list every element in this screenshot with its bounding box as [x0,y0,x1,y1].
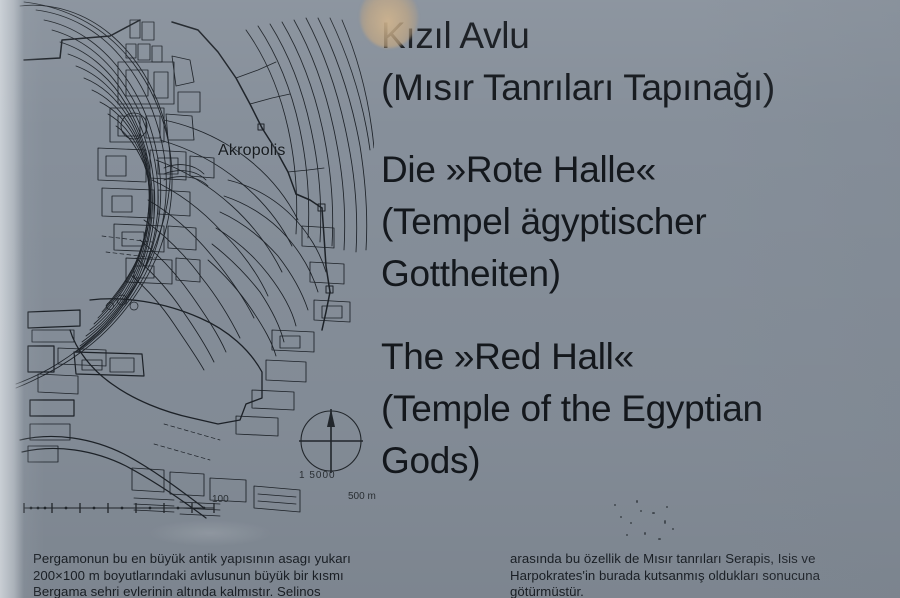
title-german-line3: Gottheiten) [381,248,896,300]
map-scale-bar [24,503,214,513]
map-label-akropolis: Akropolis [218,142,286,160]
information-sign-panel: Akropolis 1 5000 100 500 m Kızıl Avlu (M… [0,0,900,598]
map-scalebar-tick-500: 500 m [348,491,376,502]
description-left-line2: 200×100 m boyutlarındaki avlusunun büyük… [33,568,453,585]
title-english-line2: (Temple of the Egyptian [381,383,896,435]
title-english-line3: Gods) [381,435,896,487]
title-block-english: The »Red Hall« (Temple of the Egyptian G… [381,300,896,487]
description-right-line3: götürmüstür. [510,584,900,598]
map-drawing [14,0,374,540]
map-scalebar-tick-100: 100 [212,494,229,505]
description-column-left: Pergamonun bu en büyük antik yapısının a… [33,551,453,598]
title-german-line2: (Tempel ägyptischer [381,196,896,248]
title-stack: Kızıl Avlu (Mısır Tanrıları Tapınağı) Di… [381,0,896,487]
title-turkish-line1: Kızıl Avlu [381,10,896,62]
description-left-line1: Pergamonun bu en büyük antik yapısının a… [33,551,453,568]
title-german-line1: Die »Rote Halle« [381,144,896,196]
title-turkish-line2: (Mısır Tanrıları Tapınağı) [381,62,896,114]
description-column-right: arasında bu özellik de Mısır tanrıları S… [510,551,900,598]
title-block-german: Die »Rote Halle« (Tempel ägyptischer Got… [381,114,896,300]
title-english-line1: The »Red Hall« [381,331,896,383]
title-block-turkish: Kızıl Avlu (Mısır Tanrıları Tapınağı) [381,0,896,114]
dirt-specks [600,498,800,556]
description-text: Pergamonun bu en büyük antik yapısının a… [0,551,900,598]
description-right-line1: arasında bu özellik de Mısır tanrıları S… [510,551,900,568]
site-plan-map: Akropolis 1 5000 100 500 m [14,0,374,540]
compass-rose-icon [299,409,363,473]
description-left-line3: Bergama sehri evlerinin altında kalmıstı… [33,584,453,598]
description-right-line2: Harpokrates'in burada kutsanmış olduklar… [510,568,900,585]
map-scale-ratio-label: 1 5000 [299,470,336,481]
